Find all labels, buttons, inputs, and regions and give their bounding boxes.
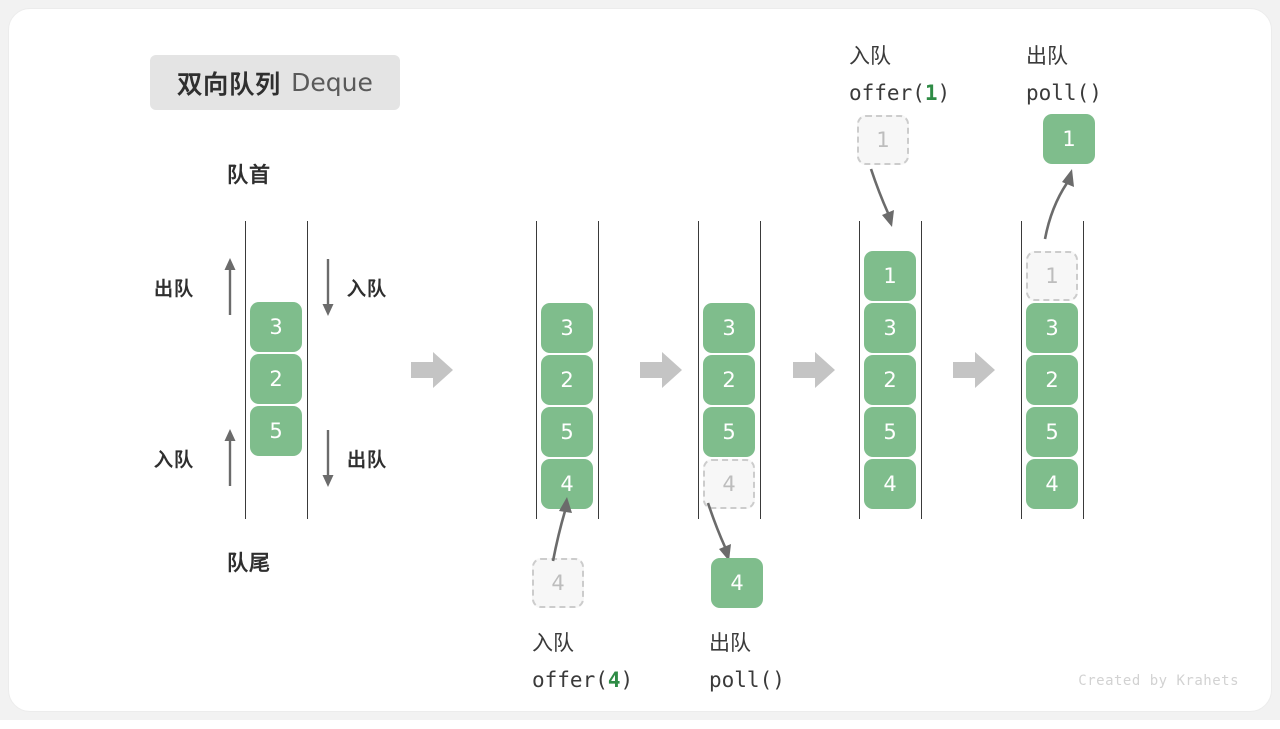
rear-dequeue-label: 出队 <box>347 445 387 472</box>
front-enqueue-arrow-icon <box>321 257 335 317</box>
diagram-canvas: 双向队列 Deque 队首 队尾 3 2 5 出队 入 <box>0 0 1280 720</box>
rear-enqueue-arrow-icon <box>223 428 237 488</box>
step-arrow-icon <box>411 351 453 389</box>
deque-cell: 3 <box>1026 303 1078 353</box>
deque-cell: 2 <box>541 355 593 405</box>
rail-left <box>1021 221 1022 519</box>
panel-offer-4: 3 2 5 4 4 入队 offer(4) <box>486 9 646 729</box>
tail-label: 队尾 <box>227 547 271 577</box>
ghost-cell-incoming: 4 <box>532 558 584 608</box>
diagram-card: 双向队列 Deque 队首 队尾 3 2 5 出队 入 <box>8 8 1272 712</box>
caption-code: offer(4) <box>532 662 633 698</box>
deque-cell: 2 <box>864 355 916 405</box>
deque-cell: 3 <box>541 303 593 353</box>
caption-poll: 出队 poll() <box>709 626 785 698</box>
deque-stack-3: 3 2 5 4 <box>703 303 755 509</box>
enqueue-arrow-icon <box>863 167 913 229</box>
deque-cell: 2 <box>703 355 755 405</box>
deque-stack-5: 1 3 2 5 4 <box>1026 251 1078 509</box>
deque-cell: 3 <box>703 303 755 353</box>
popped-cell: 1 <box>1043 114 1095 164</box>
deque-cell: 3 <box>250 302 302 352</box>
caption-code: poll() <box>1026 75 1102 111</box>
enqueue-arrow-icon <box>530 495 590 563</box>
credit-text: Created by Krahets <box>1078 673 1239 689</box>
rail-right <box>760 221 761 519</box>
caption-chinese: 入队 <box>532 626 633 662</box>
rail-left <box>698 221 699 519</box>
caption-poll: 出队 poll() <box>1026 39 1102 111</box>
rail-left <box>536 221 537 519</box>
deque-cell: 3 <box>864 303 916 353</box>
deque-cell: 5 <box>541 407 593 457</box>
deque-cell: 4 <box>864 459 916 509</box>
deque-cell: 4 <box>1026 459 1078 509</box>
panel-deque-overview: 队首 队尾 3 2 5 出队 入队 入队 <box>195 9 355 729</box>
rear-enqueue-label: 入队 <box>154 445 194 472</box>
caption-chinese: 入队 <box>849 39 950 75</box>
rail-left <box>859 221 860 519</box>
rail-right <box>1083 221 1084 519</box>
dequeue-arrow-icon <box>700 501 750 563</box>
rail-right <box>921 221 922 519</box>
deque-cell: 5 <box>703 407 755 457</box>
panel-poll-4: 3 2 5 4 4 出队 poll() <box>648 9 808 729</box>
caption-chinese: 出队 <box>709 626 785 662</box>
caption-code: poll() <box>709 662 785 698</box>
caption-offer-4: 入队 offer(4) <box>532 626 633 698</box>
deque-cell: 5 <box>864 407 916 457</box>
rail-right <box>598 221 599 519</box>
deque-cell: 2 <box>1026 355 1078 405</box>
panel-offer-1: 1 3 2 5 4 入队 offer(1) 1 <box>809 9 969 729</box>
deque-cell: 2 <box>250 354 302 404</box>
panel-poll-1: 1 3 2 5 4 出队 poll() 1 <box>971 9 1131 729</box>
deque-cell: 5 <box>1026 407 1078 457</box>
deque-stack-1: 3 2 5 <box>250 302 302 456</box>
rear-dequeue-arrow-icon <box>321 428 335 488</box>
front-dequeue-label: 出队 <box>154 274 194 301</box>
deque-stack-4: 1 3 2 5 4 <box>864 251 916 509</box>
caption-offer-1: 入队 offer(1) <box>849 39 950 111</box>
deque-cell: 1 <box>864 251 916 301</box>
head-label: 队首 <box>227 159 271 189</box>
rail-right <box>307 221 308 519</box>
deque-stack-2: 3 2 5 4 <box>541 303 593 509</box>
dequeue-arrow-icon <box>1033 165 1093 241</box>
caption-chinese: 出队 <box>1026 39 1102 75</box>
popped-cell: 4 <box>711 558 763 608</box>
ghost-cell-outgoing: 1 <box>1026 251 1078 301</box>
deque-cell: 5 <box>250 406 302 456</box>
ghost-cell-incoming: 1 <box>857 115 909 165</box>
front-dequeue-arrow-icon <box>223 257 237 317</box>
rail-left <box>245 221 246 519</box>
caption-code: offer(1) <box>849 75 950 111</box>
front-enqueue-label: 入队 <box>347 274 387 301</box>
